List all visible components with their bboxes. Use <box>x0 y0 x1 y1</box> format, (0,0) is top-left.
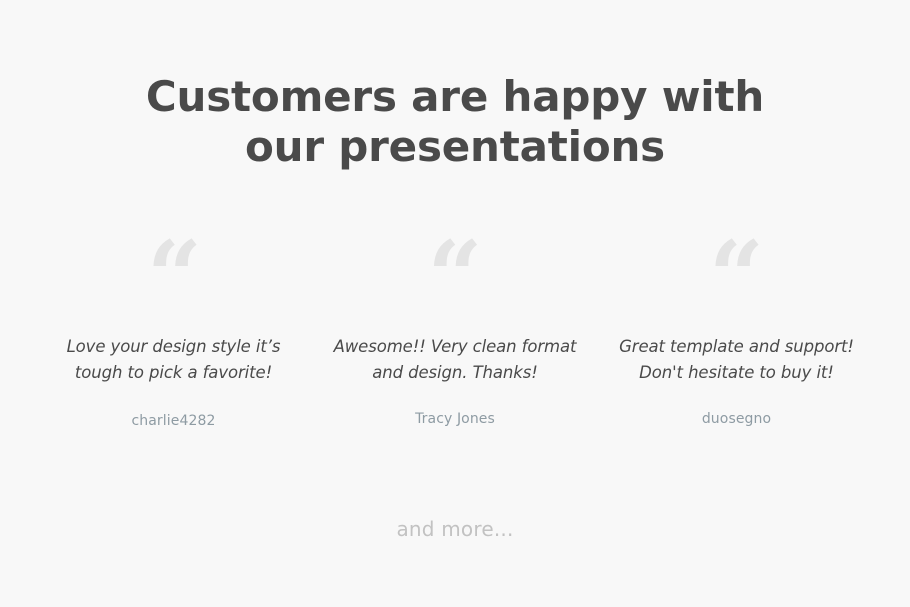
page-title-line-1: Customers are happy with <box>0 72 910 122</box>
quote-icon: “ <box>596 246 877 308</box>
page-title: Customers are happy with our presentatio… <box>0 72 910 172</box>
testimonial-quote: Great template and support! Don't hesita… <box>611 334 863 386</box>
and-more-label: and more... <box>0 516 910 542</box>
testimonial-author: charlie4282 <box>131 412 215 430</box>
testimonial-author: duosegno <box>702 410 771 428</box>
testimonial-author: Tracy Jones <box>415 410 495 428</box>
quote-icon: “ <box>32 246 315 308</box>
testimonial-list: “ Love your design style it’s tough to p… <box>33 246 877 430</box>
testimonial-card: “ Great template and support! Don't hesi… <box>596 246 877 428</box>
quote-icon: “ <box>315 246 596 308</box>
testimonial-quote: Awesome!! Very clean format and design. … <box>329 334 581 386</box>
testimonials-slide: Customers are happy with our presentatio… <box>0 0 910 607</box>
testimonial-quote: Love your design style it’s tough to pic… <box>48 334 300 386</box>
page-title-line-2: our presentations <box>0 122 910 172</box>
testimonial-card: “ Love your design style it’s tough to p… <box>33 246 314 430</box>
testimonial-card: “ Awesome!! Very clean format and design… <box>315 246 596 428</box>
